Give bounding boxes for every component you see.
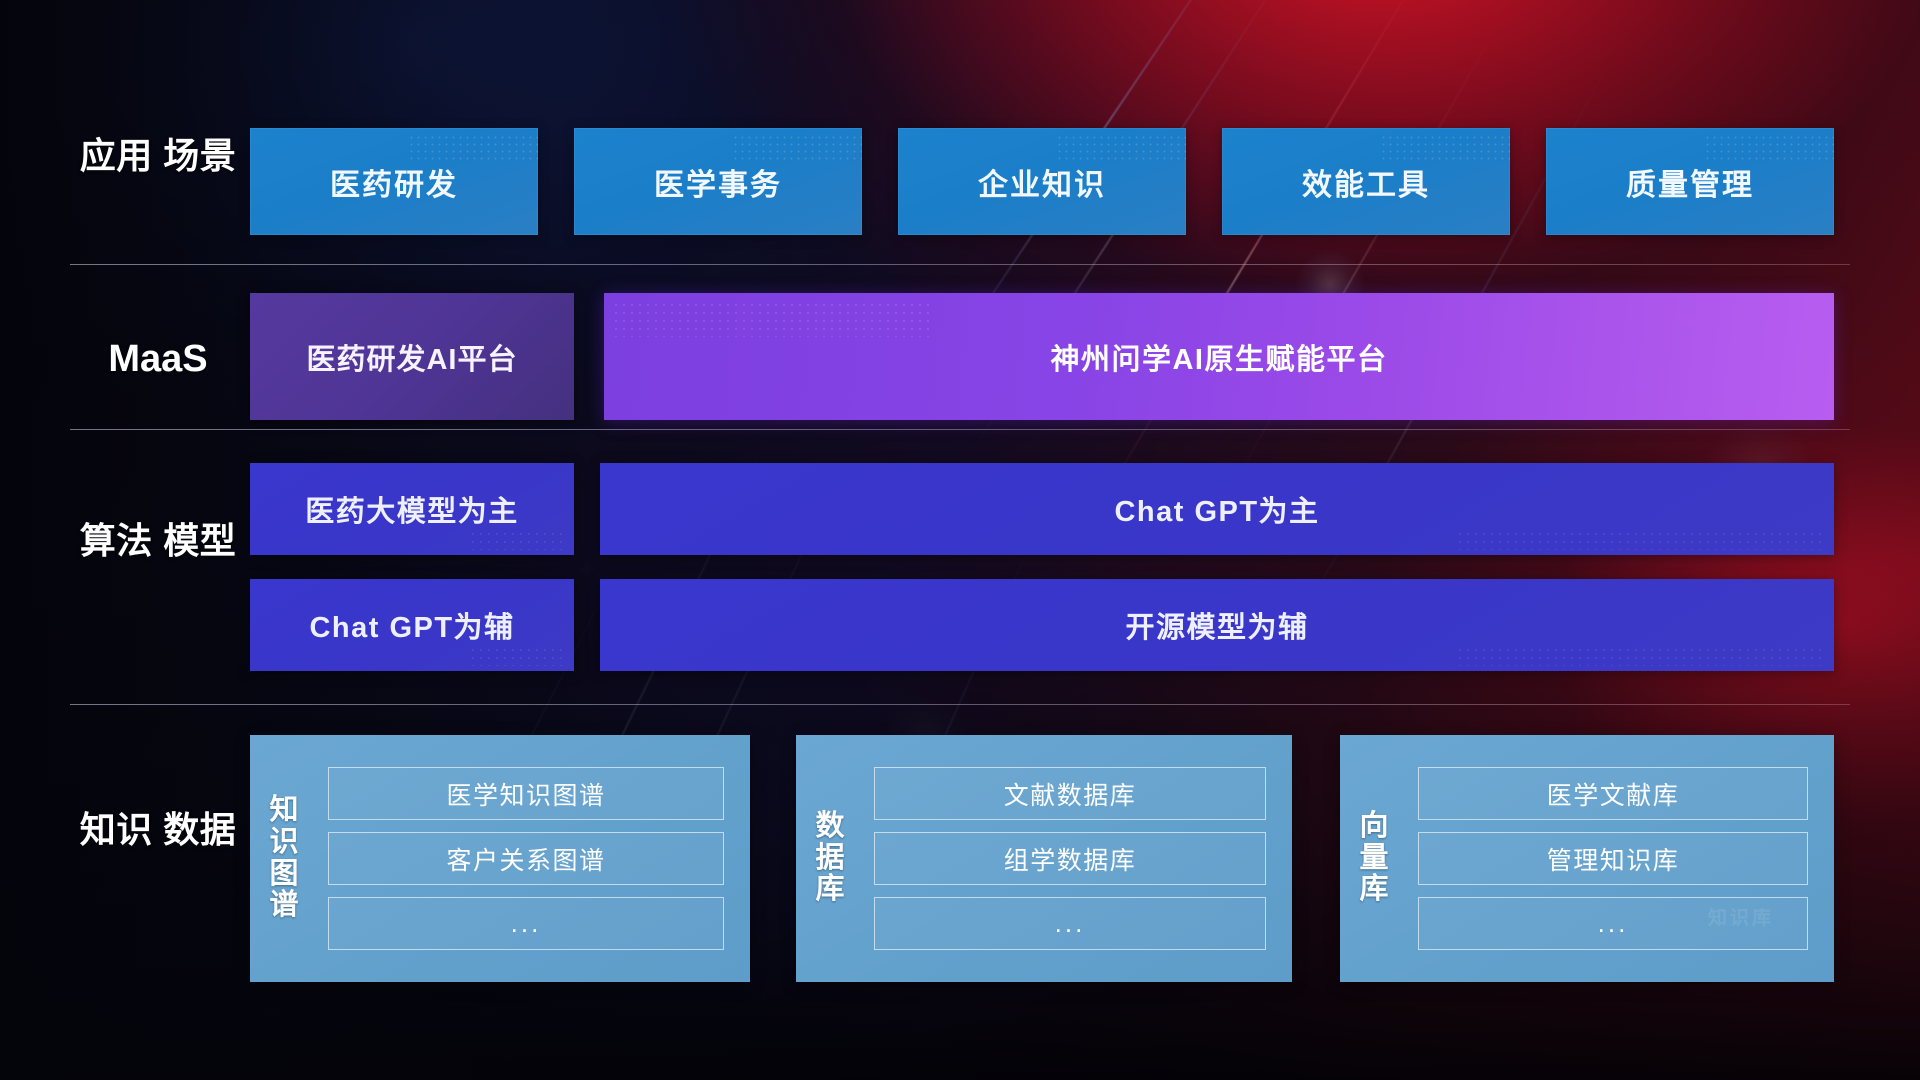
row-label-application: 应用 场景 — [78, 136, 238, 176]
row-label-knowledge: 知识 数据 — [78, 810, 238, 850]
maas-box-label: 医药研发AI平台 — [306, 336, 517, 378]
algo-box-chatgpt-primary[interactable]: Chat GPT为主 — [600, 463, 1834, 555]
knowledge-item[interactable]: 管理知识库 — [1418, 832, 1808, 885]
algo-box-chatgpt-secondary[interactable]: Chat GPT为辅 — [250, 579, 574, 671]
knowledge-item[interactable]: 客户关系图谱 — [328, 832, 724, 885]
row-label-line: 模型 — [163, 520, 236, 561]
algo-box-label: Chat GPT为主 — [1114, 488, 1319, 530]
app-box-drug-rd[interactable]: 医药研发 — [250, 128, 538, 235]
knowledge-group-database[interactable]: 数 据 库 文献数据库 组学数据库 ... — [796, 735, 1292, 982]
knowledge-item-label: ... — [1598, 908, 1629, 939]
knowledge-title-char: 谱 — [269, 890, 298, 922]
row-label-maas: MaaS — [78, 338, 238, 381]
knowledge-title-char: 据 — [815, 843, 844, 875]
algo-box-label: Chat GPT为辅 — [309, 604, 514, 646]
knowledge-item-label: 医学知识图谱 — [446, 776, 605, 812]
knowledge-item-label: 医学文献库 — [1547, 776, 1680, 812]
knowledge-item-label: 管理知识库 — [1547, 841, 1680, 877]
knowledge-group-title: 向 量 库 — [1340, 735, 1408, 982]
knowledge-group-title: 知 识 图 谱 — [250, 735, 318, 982]
algo-box-label: 医药大模型为主 — [305, 488, 519, 530]
diagram-canvas: 应用 场景 医药研发 医学事务 企业知识 效能工具 质量管理 MaaS 医药研发… — [0, 0, 1920, 1080]
knowledge-title-char: 识 — [269, 827, 298, 859]
app-box-label: 医学事务 — [654, 160, 782, 204]
app-box-quality-management[interactable]: 质量管理 — [1546, 128, 1834, 235]
knowledge-item-label: 文献数据库 — [1004, 776, 1137, 812]
knowledge-title-char: 图 — [269, 859, 298, 891]
knowledge-group-knowledge-graph[interactable]: 知 识 图 谱 医学知识图谱 客户关系图谱 ... — [250, 735, 750, 982]
app-box-label: 效能工具 — [1302, 160, 1430, 204]
knowledge-item-label: 客户关系图谱 — [446, 841, 605, 877]
app-box-medical-affairs[interactable]: 医学事务 — [574, 128, 862, 235]
divider-algorithm-knowledge — [70, 704, 1850, 705]
knowledge-item-label: ... — [1055, 908, 1086, 939]
knowledge-item-label: ... — [511, 908, 542, 939]
divider-application-maas — [70, 264, 1850, 265]
knowledge-item-list: 医学文献库 管理知识库 ... — [1408, 735, 1834, 982]
knowledge-title-char: 知 — [269, 795, 298, 827]
divider-maas-algorithm — [70, 429, 1850, 430]
row-label-line: 知识 — [80, 809, 153, 850]
maas-box-drug-ai-platform[interactable]: 医药研发AI平台 — [250, 293, 574, 420]
row-label-line: 场景 — [163, 135, 236, 176]
knowledge-item-more[interactable]: ... — [328, 897, 724, 950]
knowledge-title-char: 量 — [1359, 843, 1388, 875]
row-label-line: 应用 — [80, 135, 153, 176]
app-box-label: 质量管理 — [1626, 160, 1754, 204]
algo-box-label: 开源模型为辅 — [1125, 604, 1308, 646]
knowledge-item[interactable]: 文献数据库 — [874, 767, 1266, 820]
maas-box-label: 神州问学AI原生赋能平台 — [1050, 336, 1387, 378]
knowledge-item-list: 文献数据库 组学数据库 ... — [864, 735, 1292, 982]
knowledge-item[interactable]: 组学数据库 — [874, 832, 1266, 885]
algo-box-drug-model-primary[interactable]: 医药大模型为主 — [250, 463, 574, 555]
knowledge-item-list: 医学知识图谱 客户关系图谱 ... — [318, 735, 750, 982]
knowledge-item[interactable]: 医学文献库 — [1418, 767, 1808, 820]
app-box-enterprise-knowledge[interactable]: 企业知识 — [898, 128, 1186, 235]
knowledge-item[interactable]: 医学知识图谱 — [328, 767, 724, 820]
knowledge-title-char: 数 — [815, 811, 844, 843]
row-label-algorithm: 算法 模型 — [78, 521, 238, 561]
app-box-label: 企业知识 — [978, 160, 1106, 204]
maas-box-shenzhou-wenxue-platform[interactable]: 神州问学AI原生赋能平台 — [604, 293, 1834, 420]
knowledge-title-char: 库 — [815, 874, 844, 906]
knowledge-title-char: 库 — [1359, 874, 1388, 906]
row-label-line: 数据 — [163, 809, 236, 850]
knowledge-title-char: 向 — [1359, 811, 1388, 843]
watermark: 知识库 — [1708, 903, 1774, 930]
algo-box-opensource-secondary[interactable]: 开源模型为辅 — [600, 579, 1834, 671]
row-label-line: MaaS — [108, 338, 207, 380]
knowledge-group-title: 数 据 库 — [796, 735, 864, 982]
knowledge-item-more[interactable]: ... — [874, 897, 1266, 950]
row-label-line: 算法 — [80, 520, 153, 561]
knowledge-item-label: 组学数据库 — [1004, 841, 1137, 877]
app-box-efficiency-tools[interactable]: 效能工具 — [1222, 128, 1510, 235]
knowledge-group-vector-store[interactable]: 向 量 库 医学文献库 管理知识库 ... — [1340, 735, 1834, 982]
app-box-label: 医药研发 — [330, 160, 458, 204]
